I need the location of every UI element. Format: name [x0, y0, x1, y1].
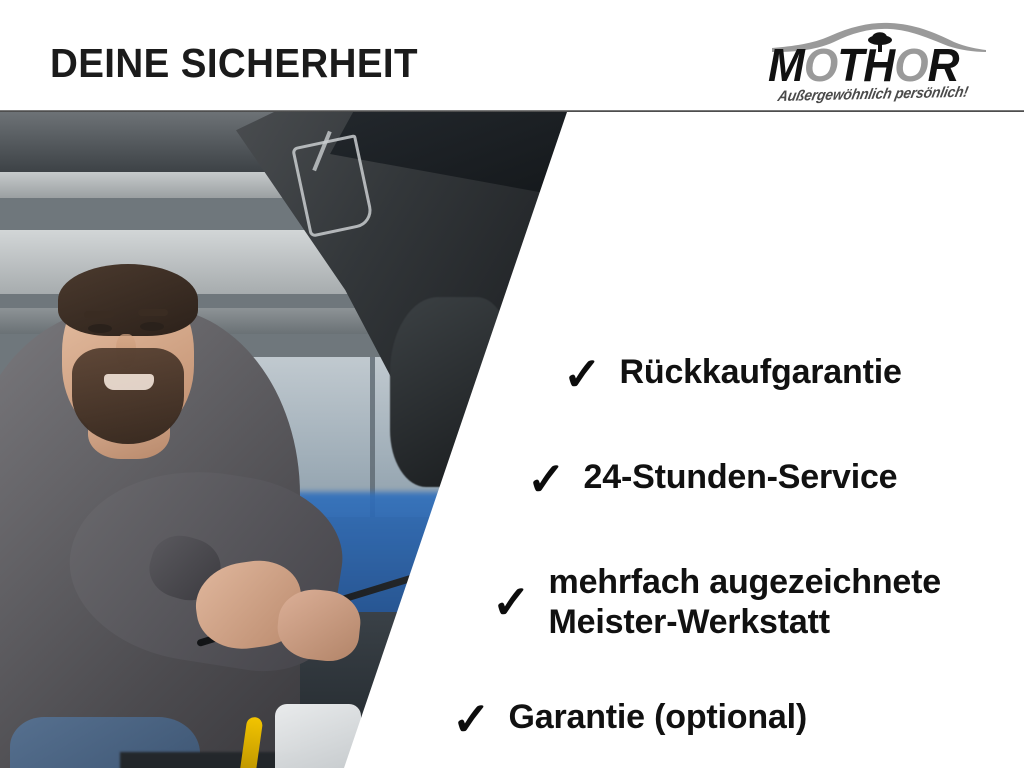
feature-item-24-stunden-service: ✓ 24-Stunden-Service: [527, 457, 897, 501]
technician-eyebrow: [138, 309, 168, 316]
logo-letter-m: M: [768, 39, 804, 91]
hero-photo: MOTHOR ✓ Rückkaufgarantie ✓ 24-Stunden-S…: [0, 112, 1024, 768]
logo-letter-o1: O: [804, 39, 837, 91]
technician-hair: [58, 264, 198, 336]
feature-item-garantie-optional: ✓ Garantie (optional): [452, 697, 807, 741]
feature-label: Rückkaufgarantie: [620, 352, 902, 392]
page-title: DEINE SICHERHEIT: [50, 40, 418, 86]
slide-root: DEINE SICHERHEIT MOTHOR Außergewöhnlich …: [0, 0, 1024, 768]
feature-label: 24-Stunden-Service: [584, 457, 898, 497]
feature-label: Garantie (optional): [509, 697, 807, 737]
check-icon: ✓: [563, 352, 602, 396]
technician-eyebrow: [84, 311, 114, 318]
technician-smile: [104, 374, 154, 390]
logo-letter-o2: O: [894, 39, 927, 91]
logo-letter-h: H: [863, 39, 894, 91]
feature-item-meister-werkstatt: ✓ mehrfach augezeichnete Meister-Werksta…: [492, 562, 941, 642]
technician-beard: [72, 348, 184, 444]
feature-label: mehrfach augezeichnete Meister-Werkstatt: [549, 562, 941, 642]
technician-eye: [140, 322, 164, 331]
logo-tagline: Außergewöhnlich persönlich!: [776, 83, 978, 104]
mothor-logo: MOTHOR Außergewöhnlich persönlich!: [768, 18, 990, 106]
check-icon: ✓: [452, 697, 491, 741]
logo-wordmark: MOTHOR: [768, 42, 981, 88]
logo-letter-t: T: [837, 39, 863, 91]
page-header: DEINE SICHERHEIT MOTHOR Außergewöhnlich …: [0, 0, 1024, 112]
check-icon: ✓: [492, 580, 531, 624]
check-icon: ✓: [527, 457, 566, 501]
technician-eye: [88, 324, 112, 333]
feature-item-rueckkaufgarantie: ✓ Rückkaufgarantie: [563, 352, 902, 396]
